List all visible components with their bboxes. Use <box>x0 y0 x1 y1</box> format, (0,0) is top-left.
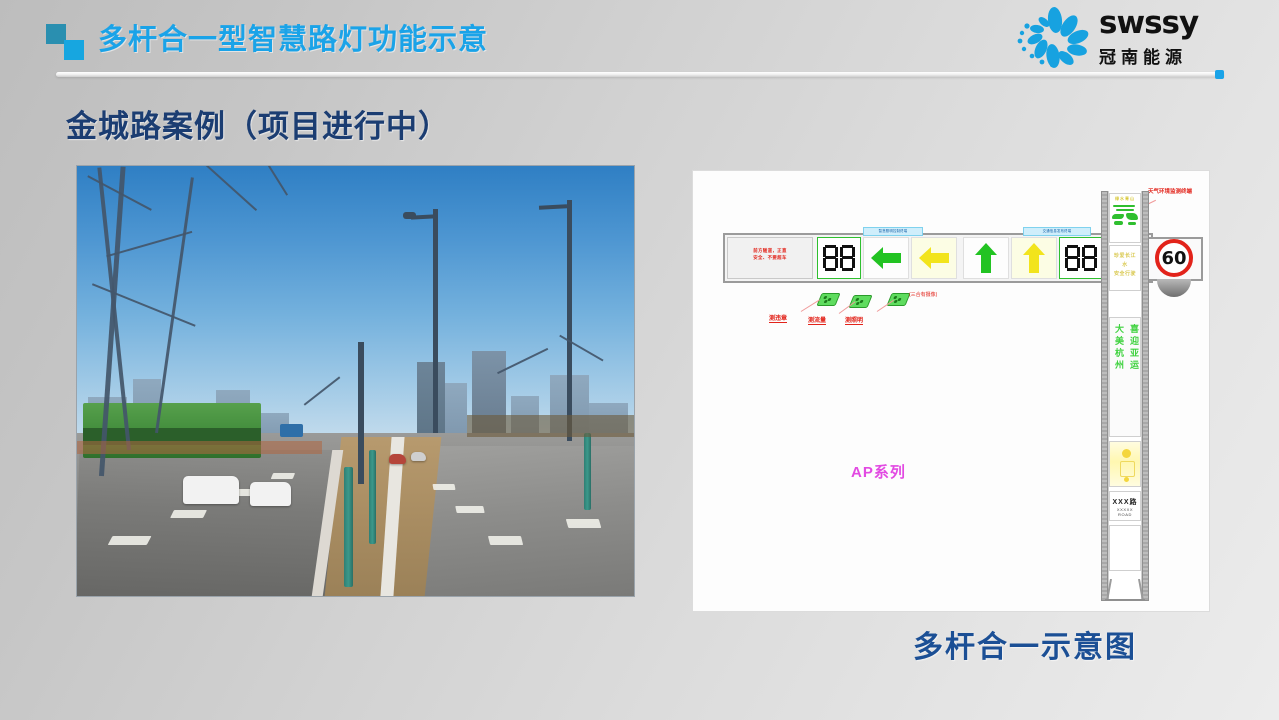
gantry-beam: 前方隧道，正直 安全、不要超车 <box>723 233 1153 283</box>
photo-lane-dash <box>566 519 602 528</box>
photo-roadside-tree <box>584 433 591 510</box>
multi-pole-diagram: 前方隧道，正直 安全、不要超车 <box>692 170 1210 612</box>
section-subtitle: 金城路案例（项目进行中） <box>66 101 450 146</box>
street-photo <box>76 165 635 597</box>
vms-line-2: 安全、不要超车 <box>731 254 809 261</box>
pole-lower-panel <box>1109 525 1141 571</box>
pole-left-rail <box>1101 191 1108 601</box>
vms-line-1: 前方隧道，正直 <box>731 247 809 254</box>
photo-blue-road-sign <box>280 424 302 437</box>
header-decoration-squares <box>46 24 90 58</box>
photo-lane-dash <box>455 506 484 513</box>
seven-segment-digit <box>1082 245 1097 271</box>
speed-limit-sign: 60 <box>1155 239 1193 277</box>
scenic-sign-title: 绿水青山 <box>1110 194 1140 202</box>
sensor-device <box>886 293 910 306</box>
photo-lamp-head <box>403 212 416 219</box>
smart-pole: 绿水青山 珍爱长江水 安全行驶 大美杭州 喜迎亚运 <box>1101 191 1149 601</box>
page-title: 多杆合一型智慧路灯功能示意 <box>98 16 488 58</box>
arrow-left-green-icon <box>863 237 909 279</box>
page-header: 多杆合一型智慧路灯功能示意 <box>0 0 1279 72</box>
vms-message-panel: 前方隧道，正直 安全、不要超车 <box>727 237 813 279</box>
seven-segment-digit <box>1065 245 1080 271</box>
arrow-up-green-icon <box>963 237 1009 279</box>
countdown-timer-right <box>1059 237 1103 279</box>
road-name-panel: XXX路 XXXXX ROAD <box>1109 491 1141 521</box>
safety-message-line-1: 珍爱长江水 <box>1112 252 1138 270</box>
photo-car <box>411 452 425 461</box>
slogan-vertical-right: 喜迎亚运 <box>1128 324 1141 372</box>
road-name-subtext: XXXXX ROAD <box>1110 507 1140 517</box>
header-divider-endcap <box>1215 70 1224 79</box>
photo-car <box>389 454 406 464</box>
photo-lane-dash <box>271 473 296 479</box>
street-lamp-icon <box>1110 442 1140 486</box>
logo-chinese-name: 冠南能源 <box>1099 43 1198 68</box>
sensor-label-flow: 测流量 <box>808 315 826 325</box>
sensor-label-lighting: 测照明 <box>845 315 863 325</box>
weather-sensor-label: 天气环境监测终端 <box>1148 187 1192 195</box>
decor-square-light <box>64 40 84 60</box>
safety-message-line-2: 安全行驶 <box>1112 270 1138 279</box>
ap-series-label: AP系列 <box>851 461 906 482</box>
lamp-display-panel <box>1109 441 1141 487</box>
sensor-note: (三合有摄像) <box>909 291 937 298</box>
decor-square-dark <box>46 24 66 44</box>
logo-wordmark: swssy <box>1099 8 1198 39</box>
safety-message-panel: 珍爱长江水 安全行驶 <box>1109 245 1141 291</box>
photo-median-tree <box>344 467 352 587</box>
pole-right-rail <box>1142 191 1149 601</box>
photo-street-lamp-pole <box>567 200 571 441</box>
water-droplet-swirl-icon <box>1011 6 1095 68</box>
scenic-sign-panel: 绿水青山 <box>1109 193 1141 243</box>
diagram-caption: 多杆合一示意图 <box>860 622 1190 666</box>
road-name-text: XXX路 <box>1110 492 1140 507</box>
photo-lane-dash <box>108 536 152 545</box>
photo-car <box>250 482 292 506</box>
photo-hedge <box>467 415 634 437</box>
slogan-panel: 大美杭州 喜迎亚运 <box>1109 317 1141 437</box>
photo-lane-dash <box>488 536 524 545</box>
photo-hedge <box>77 441 322 454</box>
seven-segment-digit <box>840 245 855 271</box>
arrow-up-yellow-icon <box>1011 237 1057 279</box>
photo-median-tree <box>369 450 376 545</box>
photo-lane-dash <box>433 484 456 490</box>
traffic-info-terminal-label: 交通信息发布终端 <box>1023 227 1091 236</box>
sensor-device <box>848 295 872 308</box>
seven-segment-digit <box>823 245 838 271</box>
lighting-control-terminal-label: 智慧照明控制终端 <box>863 227 923 236</box>
pole-base <box>1105 579 1145 601</box>
arrow-left-yellow-icon <box>911 237 957 279</box>
dome-camera-icon <box>1157 279 1191 297</box>
photo-lane-dash <box>170 510 207 518</box>
slogan-vertical-left: 大美杭州 <box>1113 324 1126 372</box>
photo-street-lamp-pole <box>433 209 437 433</box>
photo-car <box>183 476 239 504</box>
photo-smart-pole <box>358 342 364 484</box>
countdown-timer-left <box>817 237 861 279</box>
scenic-sign-artwork <box>1110 202 1140 230</box>
sensor-label-violation: 测违章 <box>769 313 787 323</box>
header-divider <box>56 72 1224 77</box>
logo-text-block: swssy 冠南能源 <box>1099 8 1198 68</box>
company-logo: swssy 冠南能源 <box>1011 4 1261 70</box>
